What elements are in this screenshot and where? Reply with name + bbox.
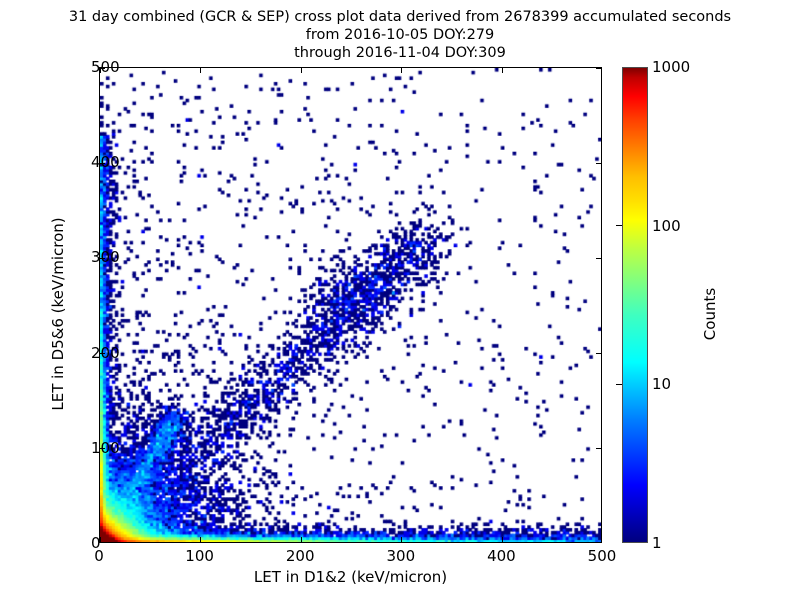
x-tick-mark-top	[401, 68, 402, 73]
title-line-1: 31 day combined (GCR & SEP) cross plot d…	[0, 8, 800, 26]
colorbar-tick-mark	[616, 225, 622, 226]
colorbar-tick-mark	[616, 384, 622, 385]
scatter-density-plot	[100, 68, 601, 542]
colorbar-tick-label: 1000	[652, 58, 690, 76]
y-tick-mark-right	[596, 353, 601, 354]
x-tick-mark-top	[200, 68, 201, 73]
colorbar-gradient	[622, 67, 648, 543]
x-tick-label: 200	[286, 547, 315, 565]
scatter-plot-axes	[99, 67, 602, 543]
y-axis-label: LET in D5&6 (keV/micron)	[49, 164, 67, 464]
colorbar-tick-label: 100	[652, 217, 681, 235]
y-tick-mark-right	[596, 163, 601, 164]
y-tick-mark-right	[596, 67, 601, 68]
x-tick-label: 500	[588, 547, 617, 565]
x-tick-mark	[301, 537, 302, 542]
y-tick-mark-right	[596, 448, 601, 449]
x-tick-mark	[401, 537, 402, 542]
x-tick-mark-top	[301, 68, 302, 73]
x-tick-label: 400	[487, 547, 516, 565]
colorbar-tick-label: 10	[652, 375, 671, 393]
plot-title: 31 day combined (GCR & SEP) cross plot d…	[0, 8, 800, 62]
x-axis-label: LET in D1&2 (keV/micron)	[99, 568, 602, 586]
title-line-2: from 2016-10-05 DOY:279	[0, 26, 800, 44]
colorbar-label: Counts	[701, 214, 719, 414]
x-tick-mark	[200, 537, 201, 542]
x-tick-mark-top	[502, 68, 503, 73]
x-tick-mark	[502, 537, 503, 542]
y-tick-mark-right	[596, 258, 601, 259]
x-tick-label: 300	[386, 547, 415, 565]
figure-canvas: 31 day combined (GCR & SEP) cross plot d…	[0, 0, 800, 600]
colorbar-tick-label: 1	[652, 534, 662, 552]
x-tick-label: 100	[185, 547, 214, 565]
